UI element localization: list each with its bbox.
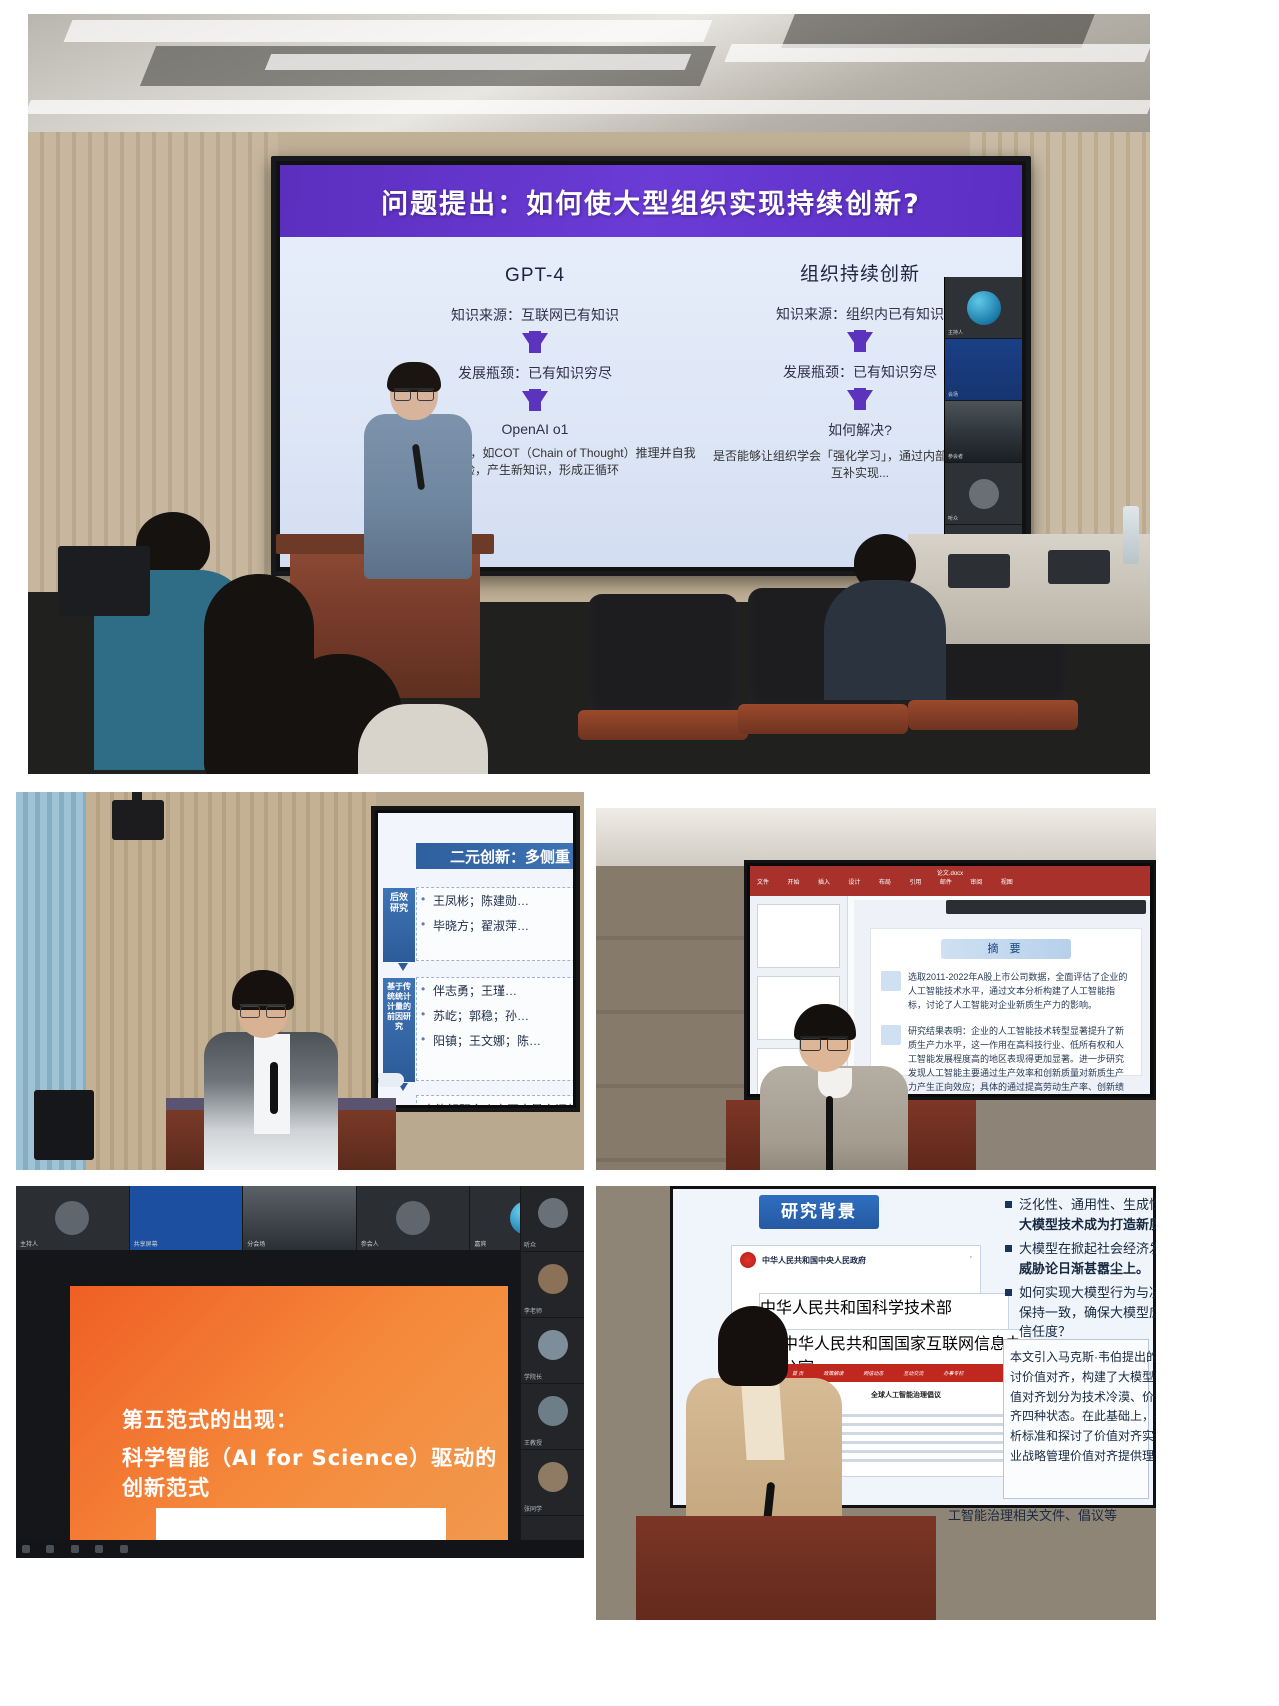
sidebar-participant[interactable]: 学院长 <box>521 1318 584 1384</box>
shared-slide-line1: 第五范式的出现： <box>122 1404 298 1434</box>
bullet-line1: 泛化性、通用性、生成性等超人工智能… <box>1019 1197 1156 1212</box>
face-avatar-icon <box>396 1201 430 1235</box>
laptop <box>1048 550 1110 584</box>
participant-tile[interactable]: 听众 <box>945 463 1022 525</box>
participant-label: 听众 <box>524 1240 536 1249</box>
bullet-item: 如何实现大模型行为与决策者价值意向… 保持一致，确保大模型应用于企业战略… 信任… <box>1005 1283 1149 1342</box>
slide: 二元创新：多侧重 后效研究 王凤彬；陈建勋… 毕晓方；翟淑萍… 基于传统统计计量… <box>378 813 573 1105</box>
section-title: 研究背景 <box>759 1195 879 1229</box>
bottom-note: 未能解释多个交互变量之间的关系，采用组态研究的方式探究二元创新倾向选择的复杂因果… <box>417 1096 573 1105</box>
participant-tile[interactable]: 主持人 <box>16 1186 130 1250</box>
menu-item[interactable]: 引用 <box>909 877 921 886</box>
slide-summary-box: 本文引入马克斯·韦伯提出的形式理… 讨价值对齐，构建了大模型价值对齐评… 值对齐… <box>1003 1339 1149 1499</box>
document-title: 论文.docx <box>937 868 963 877</box>
participant-label: 会场 <box>948 391 958 398</box>
participant-tile-shared[interactable]: 共享屏幕 <box>130 1186 244 1250</box>
attendee-body <box>358 704 488 774</box>
nav-item[interactable]: 网信动态 <box>863 1370 883 1377</box>
participant-label: 张同学 <box>524 1504 542 1513</box>
summary-line: 讨价值对齐，构建了大模型价值对齐评… <box>1010 1368 1142 1388</box>
participant-tile[interactable]: 主持人 <box>945 277 1022 339</box>
glasses-icon <box>800 1036 848 1047</box>
menu-item[interactable]: 开始 <box>787 877 799 886</box>
face-avatar-icon <box>538 1264 568 1294</box>
paragraph-text: 选取2011-2022年A股上市公司数据，全面评估了企业的人工智能技术水平，通过… <box>908 971 1131 1013</box>
arrow-down-icon <box>398 963 408 971</box>
site-title: 中华人民共和国中央人民政府 <box>762 1255 866 1266</box>
share-icon[interactable] <box>71 1545 79 1553</box>
page-thumbnail[interactable] <box>757 904 840 968</box>
sidebar-participant[interactable]: 张同学 <box>521 1450 584 1516</box>
sidebar-participant[interactable]: 听众 <box>521 1186 584 1252</box>
projector-mount <box>112 800 164 840</box>
participants-icon[interactable] <box>95 1545 103 1553</box>
national-emblem-icon <box>740 1252 756 1268</box>
bullet-line2: 保持一致，确保大模型应用于企业战略… <box>1019 1303 1149 1323</box>
face-avatar-icon <box>55 1201 89 1235</box>
shared-slide: 第五范式的出现： 科学智能（AI for Science）驱动的创新范式 <box>70 1286 508 1558</box>
camera-icon[interactable] <box>46 1545 54 1553</box>
slide-caption: 工智能治理相关文件、倡议等 <box>948 1505 1117 1524</box>
globe-avatar-icon <box>967 291 1001 325</box>
summary-line: 析标准和探讨了价值对齐实现路径，为… <box>1010 1427 1142 1447</box>
glasses-icon <box>394 388 434 397</box>
word-ribbon[interactable]: 论文.docx 文件 开始 插入 设计 布局 引用 邮件 审阅 视图 <box>750 866 1150 896</box>
list-item: 阳镇；王文娜；陈… <box>417 1028 573 1053</box>
taskbar-button[interactable]: 演示文稿 <box>378 1073 404 1087</box>
glasses-icon <box>240 1004 286 1014</box>
menu-item[interactable]: 视图 <box>1001 877 1013 886</box>
search-icon[interactable]: ⌕ <box>970 1254 972 1259</box>
meeting-toolbar[interactable] <box>16 1540 584 1558</box>
participant-tile[interactable]: 分会场 <box>243 1186 357 1250</box>
list-item: 王凤彬；陈建勋… <box>417 888 573 913</box>
sidebar-participant[interactable]: 王教授 <box>521 1384 584 1450</box>
bullet-line2: 大模型技术成为打造新质生产力的重要… <box>1019 1215 1149 1235</box>
participant-label: 分会场 <box>247 1239 265 1248</box>
face-avatar-icon <box>538 1198 568 1228</box>
nav-item[interactable]: 办事专栏 <box>943 1370 963 1377</box>
slide-title-bar: 二元创新：多侧重 <box>416 843 573 869</box>
summary-line: 值对齐划分为技术冷漠、价值盲区、对… <box>1010 1388 1142 1408</box>
presenter-speaker <box>764 1004 904 1170</box>
water-bottle <box>1123 506 1139 564</box>
slide-bullet-list: 泛化性、通用性、生成性等超人工智能… 大模型技术成为打造新质生产力的重要… 大模… <box>1005 1195 1149 1347</box>
left-column-line1: 知识来源：互联网已有知识 <box>370 305 700 325</box>
projection-screen: 二元创新：多侧重 后效研究 王凤彬；陈建勋… 毕晓方；翟淑萍… 基于传统统计计量… <box>371 806 580 1112</box>
ceiling <box>28 14 1150 144</box>
bottom-note-block: 未能解释多个交互变量之间的关系，采用组态研究的方式探究二元创新倾向选择的复杂因果… <box>416 1095 573 1105</box>
microphone-icon <box>270 1062 278 1114</box>
participant-label: 参会者 <box>948 453 963 460</box>
menu-item[interactable]: 设计 <box>848 877 860 886</box>
photo-online-meeting: 主持人 共享屏幕 分会场 参会人 嘉宾 第五范 <box>16 1186 584 1558</box>
chat-icon[interactable] <box>120 1545 128 1553</box>
participant-row[interactable]: 主持人 共享屏幕 分会场 参会人 嘉宾 <box>16 1186 584 1250</box>
list-item: 伴志勇；王瑾… <box>417 978 573 1003</box>
photo-presenter-duality: 二元创新：多侧重 后效研究 王凤彬；陈建勋… 毕晓方；翟淑萍… 基于传统统计计量… <box>16 792 584 1170</box>
bullet-line2: 威胁论日渐甚嚣尘上。 <box>1019 1259 1149 1279</box>
monitor <box>58 546 150 616</box>
summary-line: 本文引入马克斯·韦伯提出的形式理… <box>1010 1348 1142 1368</box>
arrow-down-icon <box>847 332 873 352</box>
meeting-participant-strip[interactable]: 主持人 会场 参会者 听众 <box>944 277 1022 567</box>
shared-slide-line2: 科学智能（AI for Science）驱动的创新范式 <box>122 1442 508 1502</box>
nav-item[interactable]: 互动交流 <box>903 1370 923 1377</box>
arrow-down-icon <box>522 391 548 411</box>
summary-line: 业战略管理价值对齐提供理论支撑与实… <box>1010 1447 1142 1467</box>
menu-item[interactable]: 审阅 <box>970 877 982 886</box>
menu-item[interactable]: 布局 <box>879 877 891 886</box>
participant-label: 嘉宾 <box>474 1239 486 1248</box>
participant-label: 李老师 <box>524 1306 542 1315</box>
participant-tile[interactable]: 参会者 <box>945 401 1022 463</box>
document-page: 摘 要 选取2011-2022年A股上市公司数据，全面评估了企业的人工智能技术水… <box>870 928 1142 1076</box>
slide-title: 问题提出：如何使大型组织实现持续创新? <box>381 182 921 221</box>
bullet-line1: 大模型在掀起社会经济发展颠覆性变革… <box>1019 1241 1156 1256</box>
face-avatar-icon <box>538 1396 568 1426</box>
participant-sidebar[interactable]: 听众 李老师 学院长 王教授 张同学 <box>520 1186 584 1558</box>
face-avatar-icon <box>538 1330 568 1360</box>
abstract-heading: 摘 要 <box>941 939 1071 959</box>
group-1-tab: 后效研究 <box>383 888 415 962</box>
photo-presenter-governance: 研究背景 中华人民共和国中央人民政府 ⌕ 中华人民共和国科学技术部 中华人民共和… <box>596 1186 1156 1620</box>
presenter-speaker <box>358 366 478 576</box>
photo-main-conference: 会议控制 问题提出：如何使大型组织实现持续创新? GPT-4 知识来源：互联网已… <box>28 14 1150 774</box>
participant-tile[interactable]: 会场 <box>945 339 1022 401</box>
menu-item[interactable]: 邮件 <box>940 877 952 886</box>
sidebar-participant[interactable]: 李老师 <box>521 1252 584 1318</box>
monitor <box>34 1090 94 1160</box>
mic-icon[interactable] <box>22 1545 30 1553</box>
attendee-body <box>824 580 946 700</box>
list-item: 苏屹；郭稳；孙… <box>417 1003 573 1028</box>
participant-label: 听众 <box>948 515 958 522</box>
lectern <box>636 1516 936 1620</box>
menu-item[interactable]: 插入 <box>818 877 830 886</box>
participant-label: 主持人 <box>948 329 963 336</box>
marker-icon <box>881 971 901 991</box>
bullet-line1: 如何实现大模型行为与决策者价值意向… <box>1019 1285 1156 1300</box>
bullet-item: 大模型在掀起社会经济发展颠覆性变革… 威胁论日渐甚嚣尘上。 <box>1005 1239 1149 1278</box>
participant-label: 共享屏幕 <box>134 1239 158 1248</box>
list-item: 毕晓方；翟淑萍… <box>417 913 573 938</box>
paragraph-text: 研究结果表明：企业的人工智能技术转型显著提升了新质生产力水平，这一作用在高科技行… <box>908 1025 1131 1094</box>
participant-label: 参会人 <box>361 1239 379 1248</box>
laptop <box>948 554 1010 588</box>
participant-label: 学院长 <box>524 1372 542 1381</box>
bullet-item: 泛化性、通用性、生成性等超人工智能… 大模型技术成为打造新质生产力的重要… <box>1005 1195 1149 1234</box>
face-avatar-icon <box>969 479 999 509</box>
slide-title-bar: 问题提出：如何使大型组织实现持续创新? <box>280 165 1022 237</box>
presenter-speaker <box>206 970 336 1170</box>
microphone-icon <box>826 1096 833 1170</box>
photo-collage: 会议控制 问题提出：如何使大型组织实现持续创新? GPT-4 知识来源：互联网已… <box>0 0 1279 1706</box>
slide-title: 二元创新：多侧重 <box>450 846 570 867</box>
address-bar[interactable] <box>946 900 1146 914</box>
group-block-2: 基于传统统计计量的前因研究 伴志勇；王瑾… 苏屹；郭稳；孙… 阳镇；王文娜；陈… <box>416 977 573 1081</box>
participant-label: 王教授 <box>524 1438 542 1447</box>
left-column-heading: GPT-4 <box>370 265 700 287</box>
participant-tile[interactable]: 参会人 <box>357 1186 471 1250</box>
summary-line: 齐四种状态。在此基础上，提出了大模型价… <box>1010 1407 1142 1427</box>
menu-item[interactable]: 文件 <box>757 877 769 886</box>
abstract-paragraph: 研究结果表明：企业的人工智能技术转型显著提升了新质生产力水平，这一作用在高科技行… <box>871 1021 1141 1094</box>
face-avatar-icon <box>538 1462 568 1492</box>
group-2-tab: 基于传统统计计量的前因研究 <box>383 978 415 1082</box>
meeting-window: 主持人 共享屏幕 分会场 参会人 嘉宾 第五范 <box>16 1186 584 1558</box>
abstract-paragraph: 选取2011-2022年A股上市公司数据，全面评估了企业的人工智能技术水平，通过… <box>871 967 1141 1021</box>
arrow-down-icon <box>522 333 548 353</box>
arrow-down-icon <box>847 390 873 410</box>
photo-presenter-abstract: 论文.docx 文件 开始 插入 设计 布局 引用 邮件 审阅 视图 <box>596 808 1156 1170</box>
group-block-1: 后效研究 王凤彬；陈建勋… 毕晓方；翟淑萍… <box>416 887 573 961</box>
participant-label: 主持人 <box>20 1239 38 1248</box>
shared-screen-stage: 第五范式的出现： 科学智能（AI for Science）驱动的创新范式 <box>16 1250 520 1558</box>
taskbar-label: 演示文稿 <box>378 1077 379 1084</box>
